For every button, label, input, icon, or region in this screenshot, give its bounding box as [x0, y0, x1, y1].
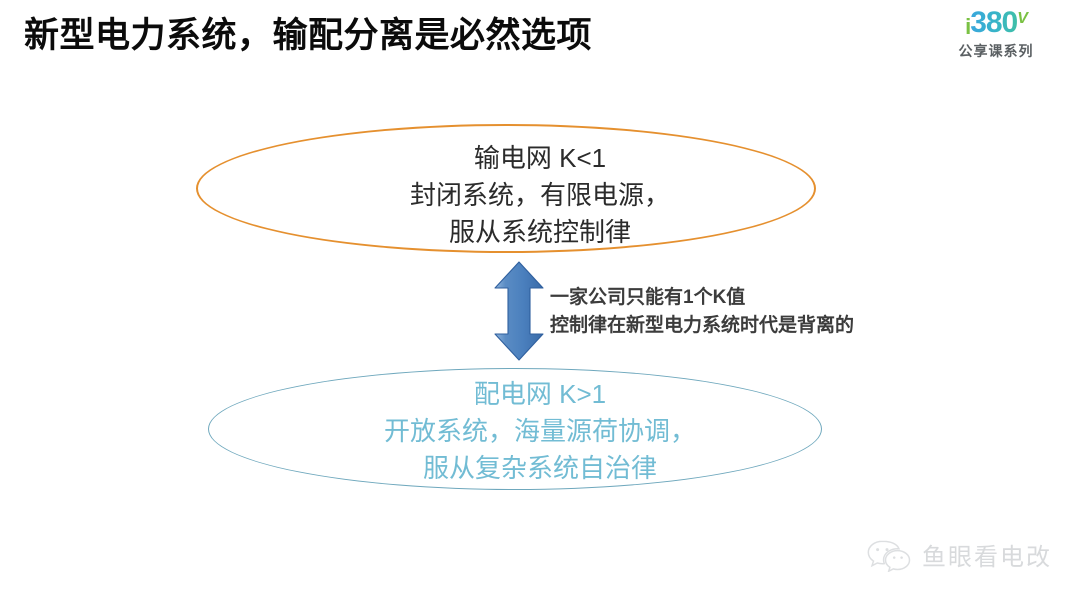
brand-subtitle: 公享课系列: [934, 44, 1058, 58]
brand-number-380: 380: [970, 6, 1017, 39]
brand-letter-v: V: [1017, 10, 1027, 27]
distribution-line-1: 配电网 K>1: [0, 376, 1080, 413]
transmission-line-1: 输电网 K<1: [0, 140, 1080, 177]
watermark-label: 鱼眼看电改: [922, 537, 1052, 572]
page-title: 新型电力系统，输配分离是必然选项: [24, 14, 592, 58]
slide-canvas: 新型电力系统，输配分离是必然选项 i380V 公享课系列 输电网 K<1 封闭系…: [0, 0, 1080, 608]
distribution-line-3: 服从复杂系统自治律: [0, 450, 1080, 487]
brand-wordmark: i380V: [934, 8, 1058, 40]
watermark: 鱼眼看电改: [866, 537, 1052, 572]
transmission-line-3: 服从系统控制律: [0, 214, 1080, 251]
annotation-line-1: 一家公司只能有1个K值: [550, 284, 854, 312]
annotation-note: 一家公司只能有1个K值 控制律在新型电力系统时代是背离的: [550, 284, 854, 339]
distribution-grid-text: 配电网 K>1 开放系统，海量源荷协调， 服从复杂系统自治律: [0, 376, 1080, 487]
brand-logo: i380V 公享课系列: [934, 8, 1058, 58]
wechat-bubbles-icon: [866, 538, 912, 572]
transmission-grid-text: 输电网 K<1 封闭系统，有限电源， 服从系统控制律: [0, 140, 1080, 251]
distribution-line-2: 开放系统，海量源荷协调，: [0, 413, 1080, 450]
annotation-line-2: 控制律在新型电力系统时代是背离的: [550, 312, 854, 340]
up-down-arrow-icon: [492, 261, 546, 361]
transmission-line-2: 封闭系统，有限电源，: [0, 177, 1080, 214]
